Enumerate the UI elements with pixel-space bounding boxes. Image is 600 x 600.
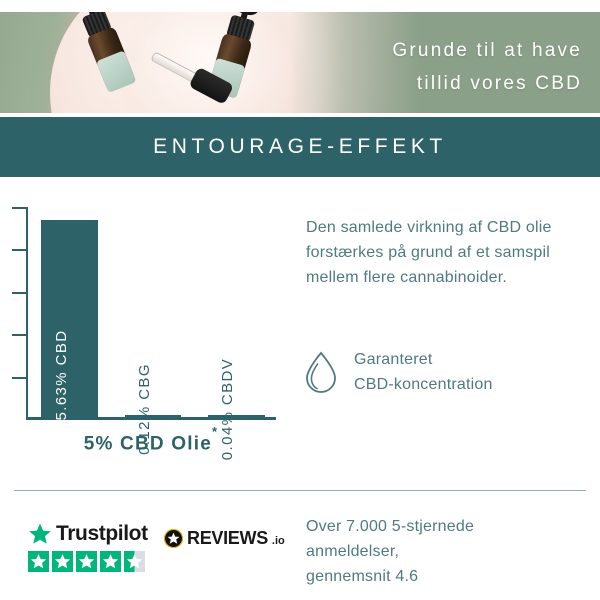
- reviews-summary-line-3: gennemsnit 4.6: [306, 568, 418, 585]
- chart-caption: 5% CBD Olie*: [26, 430, 276, 455]
- chart-bar: 0.12% CBG: [125, 415, 182, 419]
- hero-banner: Grunde til at have tillid vores CBD: [0, 12, 600, 113]
- infographic-page: Grunde til at have tillid vores CBD ENTO…: [0, 0, 600, 600]
- chart-y-tick: [12, 334, 27, 336]
- trustpilot-star-icon: [28, 522, 52, 546]
- description-paragraph: Den samlede virkning af CBD olie forstær…: [306, 215, 586, 290]
- chart-y-tick: [12, 207, 27, 209]
- chart-caption-text: 5% CBD Olie: [84, 433, 212, 454]
- water-drop-icon: [302, 350, 340, 394]
- description-block: Den samlede virkning af CBD olie forstær…: [306, 215, 586, 290]
- chart-bar: 5.63% CBD: [41, 220, 98, 419]
- reviews-summary-line-1: Over 7.000 5-stjernede: [306, 518, 474, 535]
- reviews-summary-text: Over 7.000 5-stjernede anmeldelser, genn…: [306, 514, 592, 589]
- trustpilot-star-rating: [28, 551, 288, 572]
- reviews-io-star-icon: [164, 529, 183, 548]
- reviews-io-suffix: .io: [272, 535, 285, 547]
- trustpilot-star-cell: [28, 551, 49, 572]
- trustpilot-star-cell: [100, 551, 121, 572]
- trustpilot-wordmark: Trustpilot: [56, 522, 148, 546]
- trustpilot-star-cell: [52, 551, 73, 572]
- chart-y-tick: [12, 249, 27, 251]
- chart-bar-label: 5.63% CBD: [53, 330, 70, 421]
- guarantee-line-1: Garanteret: [354, 351, 432, 368]
- guarantee-text: Garanteret CBD-koncentration: [354, 347, 493, 397]
- trustpilot-star-cell: [76, 551, 97, 572]
- section-banner: ENTOURAGE-EFFEKT: [0, 117, 600, 177]
- main-content: 5.63% CBD0.12% CBG0.04% CBDV 5% CBD Olie…: [0, 177, 600, 490]
- reviews-io-wordmark: REVIEWS: [187, 528, 268, 549]
- reviews-io-logo[interactable]: REVIEWS .io: [164, 528, 285, 549]
- hero-headline: Grunde til at have tillid vores CBD: [282, 34, 582, 100]
- cannabinoid-bar-chart: 5.63% CBD0.12% CBG0.04% CBDV 5% CBD Olie…: [0, 177, 292, 490]
- footer-divider: [14, 490, 586, 491]
- reviews-summary-line-2: anmeldelser,: [306, 543, 399, 560]
- chart-y-tick: [12, 292, 27, 294]
- hero-headline-line-1: Grunde til at have: [282, 34, 582, 67]
- chart-caption-asterisk: *: [212, 424, 218, 439]
- chart-bars: 5.63% CBD0.12% CBG0.04% CBDV: [28, 207, 278, 419]
- hero-headline-line-2: tillid vores CBD: [282, 67, 582, 100]
- section-title: ENTOURAGE-EFFEKT: [153, 135, 447, 159]
- trustpilot-star-cell: [124, 551, 145, 572]
- footer-section: Trustpilot REVIEWS .io Over 7.000 5-stje…: [0, 500, 600, 600]
- chart-bar: 0.04% CBDV: [208, 415, 265, 419]
- guarantee-block: Garanteret CBD-koncentration: [302, 347, 592, 397]
- chart-y-tick: [12, 377, 27, 379]
- guarantee-line-2: CBD-koncentration: [354, 376, 493, 393]
